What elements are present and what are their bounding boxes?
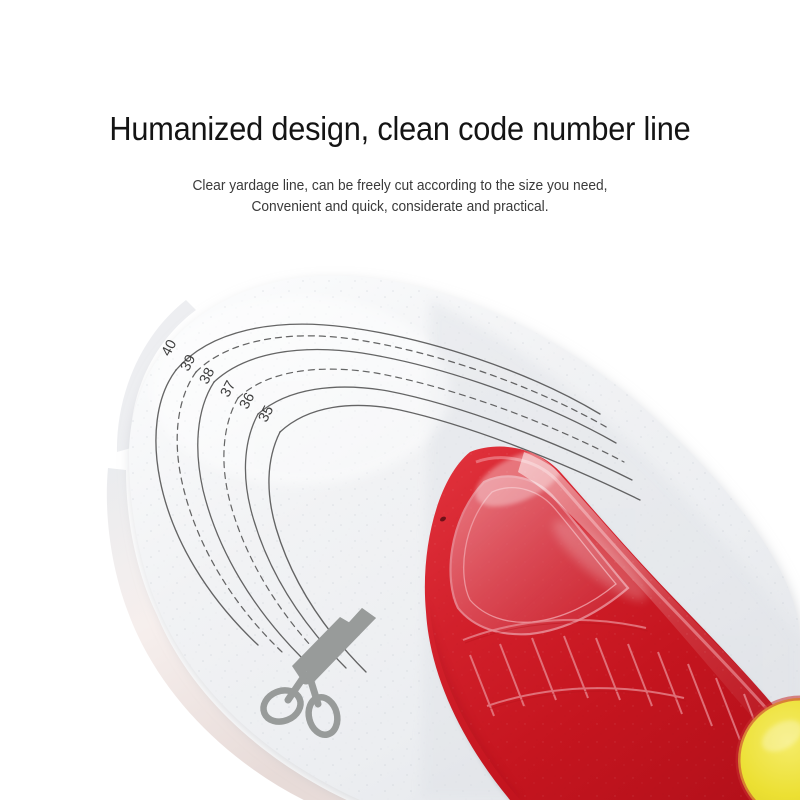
product-marketing-page: Humanized design, clean code number line… — [0, 0, 800, 800]
product-photo: 40 39 38 37 36 35 — [0, 0, 800, 800]
